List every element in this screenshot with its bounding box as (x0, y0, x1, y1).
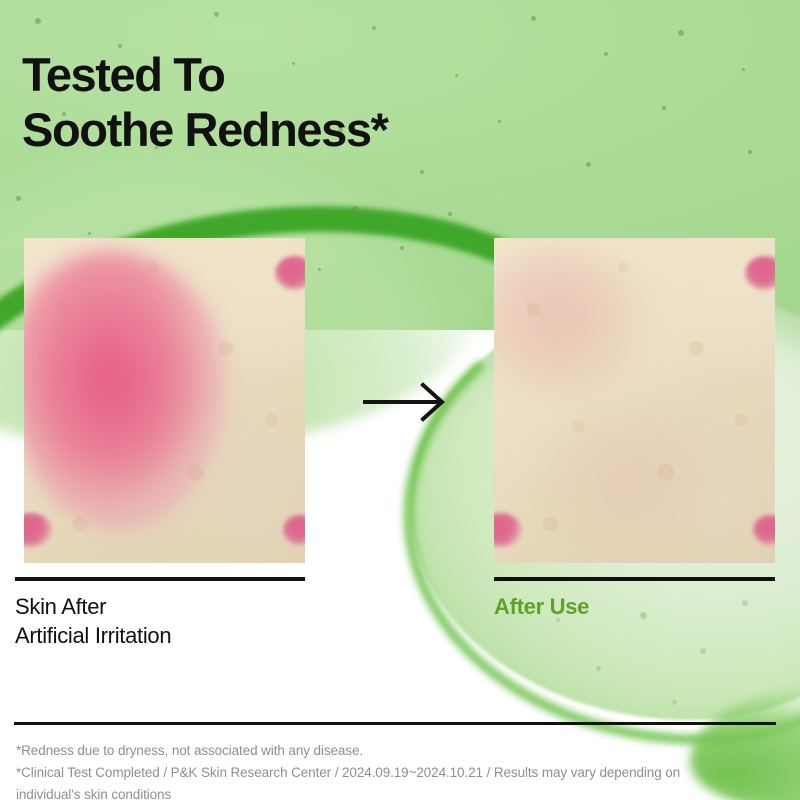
before-caption: Skin After Artificial Irritation (15, 592, 171, 650)
footnote-line-3: individual's skin conditions (16, 784, 784, 800)
arrow-right-icon (363, 382, 449, 422)
headline-line-1: Tested To (22, 48, 622, 103)
before-photo (24, 238, 305, 563)
before-redness-core (35, 297, 192, 486)
after-caption-rule (494, 577, 775, 581)
after-caption-line-1: After Use (494, 592, 589, 621)
after-redness-core (539, 407, 713, 550)
after-photo (494, 238, 775, 563)
headline-line-2: Soothe Redness* (22, 103, 622, 158)
before-caption-line-2: Artificial Irritation (15, 621, 171, 650)
footer-divider (14, 722, 776, 725)
footnote-line-2: *Clinical Test Completed / P&K Skin Rese… (16, 762, 784, 784)
footnote-text: *Redness due to dryness, not associated … (16, 740, 784, 800)
page-title: Tested To Soothe Redness* (22, 48, 622, 157)
footnote-line-1: *Redness due to dryness, not associated … (16, 740, 784, 762)
before-caption-rule (15, 577, 305, 581)
after-caption: After Use (494, 592, 589, 621)
before-caption-line-1: Skin After (15, 592, 171, 621)
promo-banner: Tested To Soothe Redness* Skin After Art… (0, 0, 800, 800)
